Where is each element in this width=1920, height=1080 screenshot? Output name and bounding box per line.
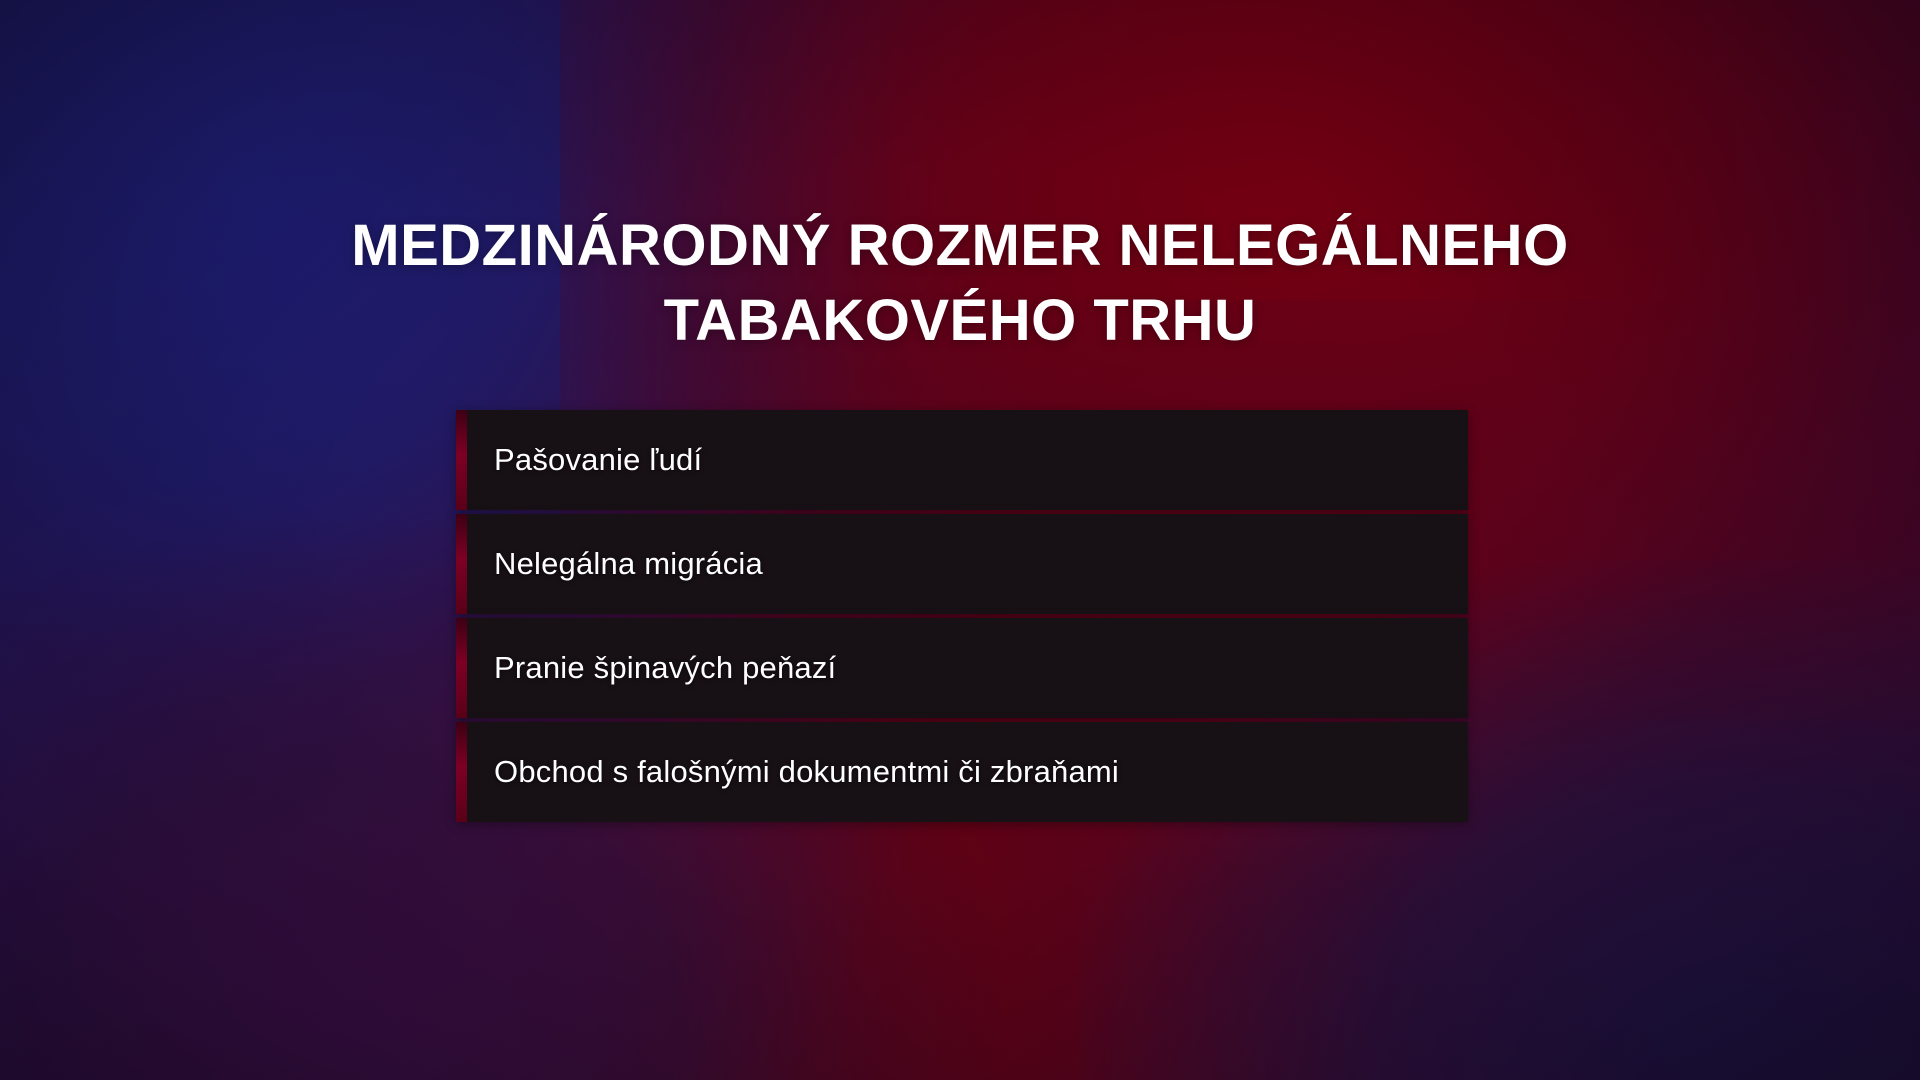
list-item[interactable]: Pranie špinavých peňazí [456, 618, 1468, 718]
list-item-label: Obchod s falošnými dokumentmi či zbraňam… [456, 755, 1119, 789]
presentation-slide: MEDZINÁRODNÝ ROZMER NELEGÁLNEHO TABAKOVÉ… [0, 0, 1920, 1080]
list-item[interactable]: Pašovanie ľudí [456, 410, 1468, 510]
slide-content: MEDZINÁRODNÝ ROZMER NELEGÁLNEHO TABAKOVÉ… [0, 0, 1920, 1080]
bullet-list: Pašovanie ľudí Nelegálna migrácia Pranie… [456, 410, 1468, 822]
list-item-label: Nelegálna migrácia [456, 547, 763, 581]
slide-title-line-2: TABAKOVÉHO TRHU [290, 283, 1630, 358]
list-item-label: Pašovanie ľudí [456, 443, 702, 477]
list-item-label: Pranie špinavých peňazí [456, 651, 836, 685]
list-item[interactable]: Nelegálna migrácia [456, 514, 1468, 614]
slide-title: MEDZINÁRODNÝ ROZMER NELEGÁLNEHO TABAKOVÉ… [290, 208, 1630, 359]
list-item[interactable]: Obchod s falošnými dokumentmi či zbraňam… [456, 722, 1468, 822]
slide-title-line-1: MEDZINÁRODNÝ ROZMER NELEGÁLNEHO [290, 208, 1630, 283]
